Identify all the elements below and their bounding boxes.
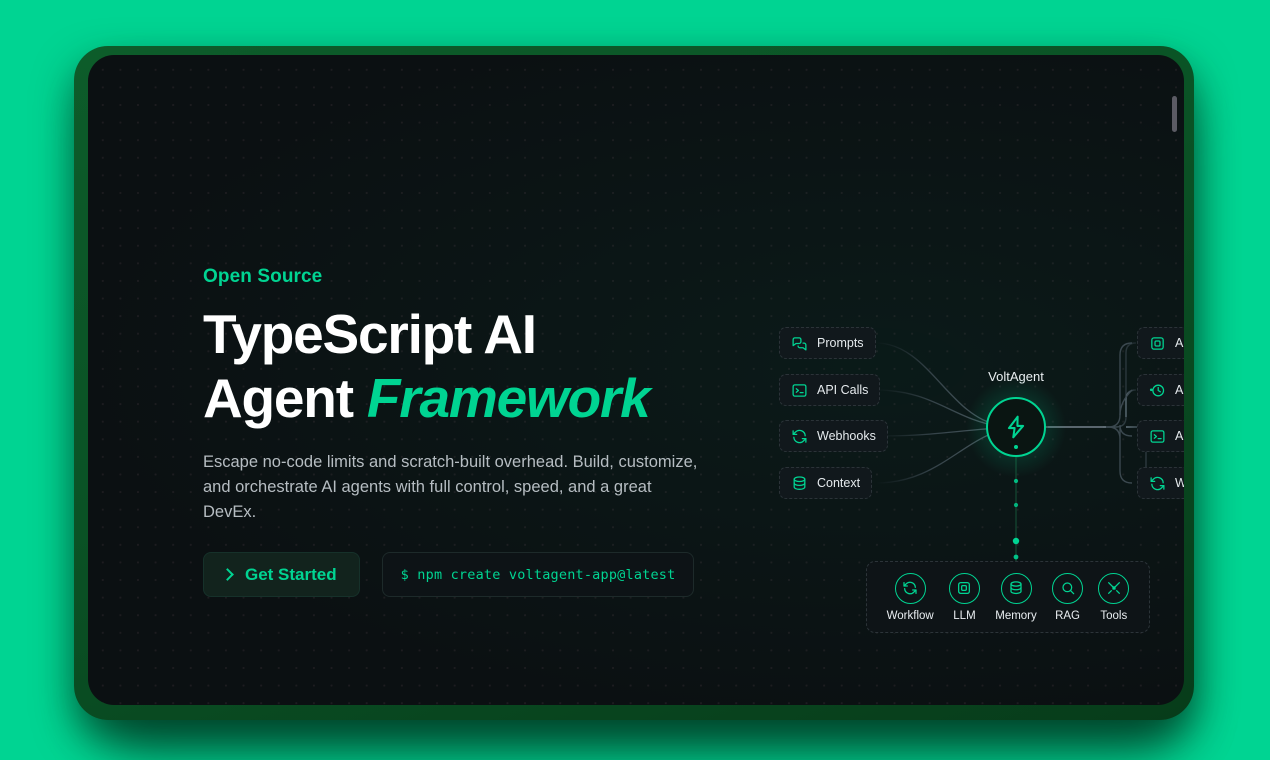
chevron-right-icon [221,568,234,581]
terminal-icon [791,382,808,399]
get-started-button[interactable]: Get Started [203,552,360,597]
chip-icon [956,580,972,596]
capability-label: RAG [1055,610,1080,622]
lightning-bolt-icon [1003,414,1029,440]
capability-label: Memory [995,610,1037,622]
tools-icon [1106,580,1122,596]
refresh-icon [791,428,808,445]
node-card-context[interactable]: Context [779,467,872,499]
refresh-icon [1149,475,1166,492]
terminal-icon [1149,428,1166,445]
capability-icon-wrap [1001,573,1032,604]
hub-status-dot [1014,445,1018,449]
node-card-label: Prompts [817,336,864,350]
capability-llm[interactable]: LLM [949,573,980,622]
headline-line-2-accent: Framework [367,367,650,429]
search-icon [1060,580,1076,596]
hub-circle[interactable] [986,397,1046,457]
hero-copy: Open Source TypeScript AI Agent Framewor… [203,266,723,525]
node-card-api-calls[interactable]: API Calls [779,374,880,406]
vertical-scrollbar-track[interactable] [1175,73,1181,687]
clock-icon [1149,382,1166,399]
database-icon [1008,580,1024,596]
page-title: TypeScript AI Agent Framework [203,302,723,430]
capability-label: Workflow [887,610,934,622]
headline-line-1: TypeScript AI [203,303,536,365]
eyebrow-label: Open Source [203,266,723,288]
vertical-scrollbar-thumb[interactable] [1172,96,1177,132]
capabilities-panel: Workflow LLM [866,561,1150,633]
install-command-copy-box[interactable]: $ npm create voltagent-app@latest [382,552,695,597]
install-command-text: $ npm create voltagent-app@latest [401,567,676,583]
node-card-label: Context [817,476,860,490]
device-screen: Open Source TypeScript AI Agent Framewor… [88,55,1184,705]
refresh-icon [902,580,918,596]
chip-icon [1149,335,1166,352]
capability-tools[interactable]: Tools [1098,573,1129,622]
capability-icon-wrap [1052,573,1083,604]
capability-icon-wrap [1098,573,1129,604]
capability-label: Tools [1100,610,1127,622]
headline-line-2-plain: Agent [203,367,367,429]
capability-label: LLM [953,610,975,622]
capability-icon-wrap [895,573,926,604]
database-icon [791,475,808,492]
capability-rag[interactable]: RAG [1052,573,1083,622]
capability-memory[interactable]: Memory [995,573,1037,622]
get-started-label: Get Started [245,565,337,585]
node-card-webhooks-in[interactable]: Webhooks [779,420,888,452]
hub-node-voltagent[interactable] [986,397,1046,457]
architecture-diagram: Prompts API Calls Webhooks [748,305,1184,655]
hero-subcopy: Escape no-code limits and scratch-built … [203,450,703,525]
node-card-label: Webhooks [817,429,876,443]
capability-workflow[interactable]: Workflow [887,573,934,622]
chat-bubbles-icon [791,335,808,352]
node-card-label: API Calls [817,383,868,397]
capability-icon-wrap [949,573,980,604]
node-card-prompts[interactable]: Prompts [779,327,876,359]
cta-row: Get Started $ npm create voltagent-app@l… [203,552,694,597]
